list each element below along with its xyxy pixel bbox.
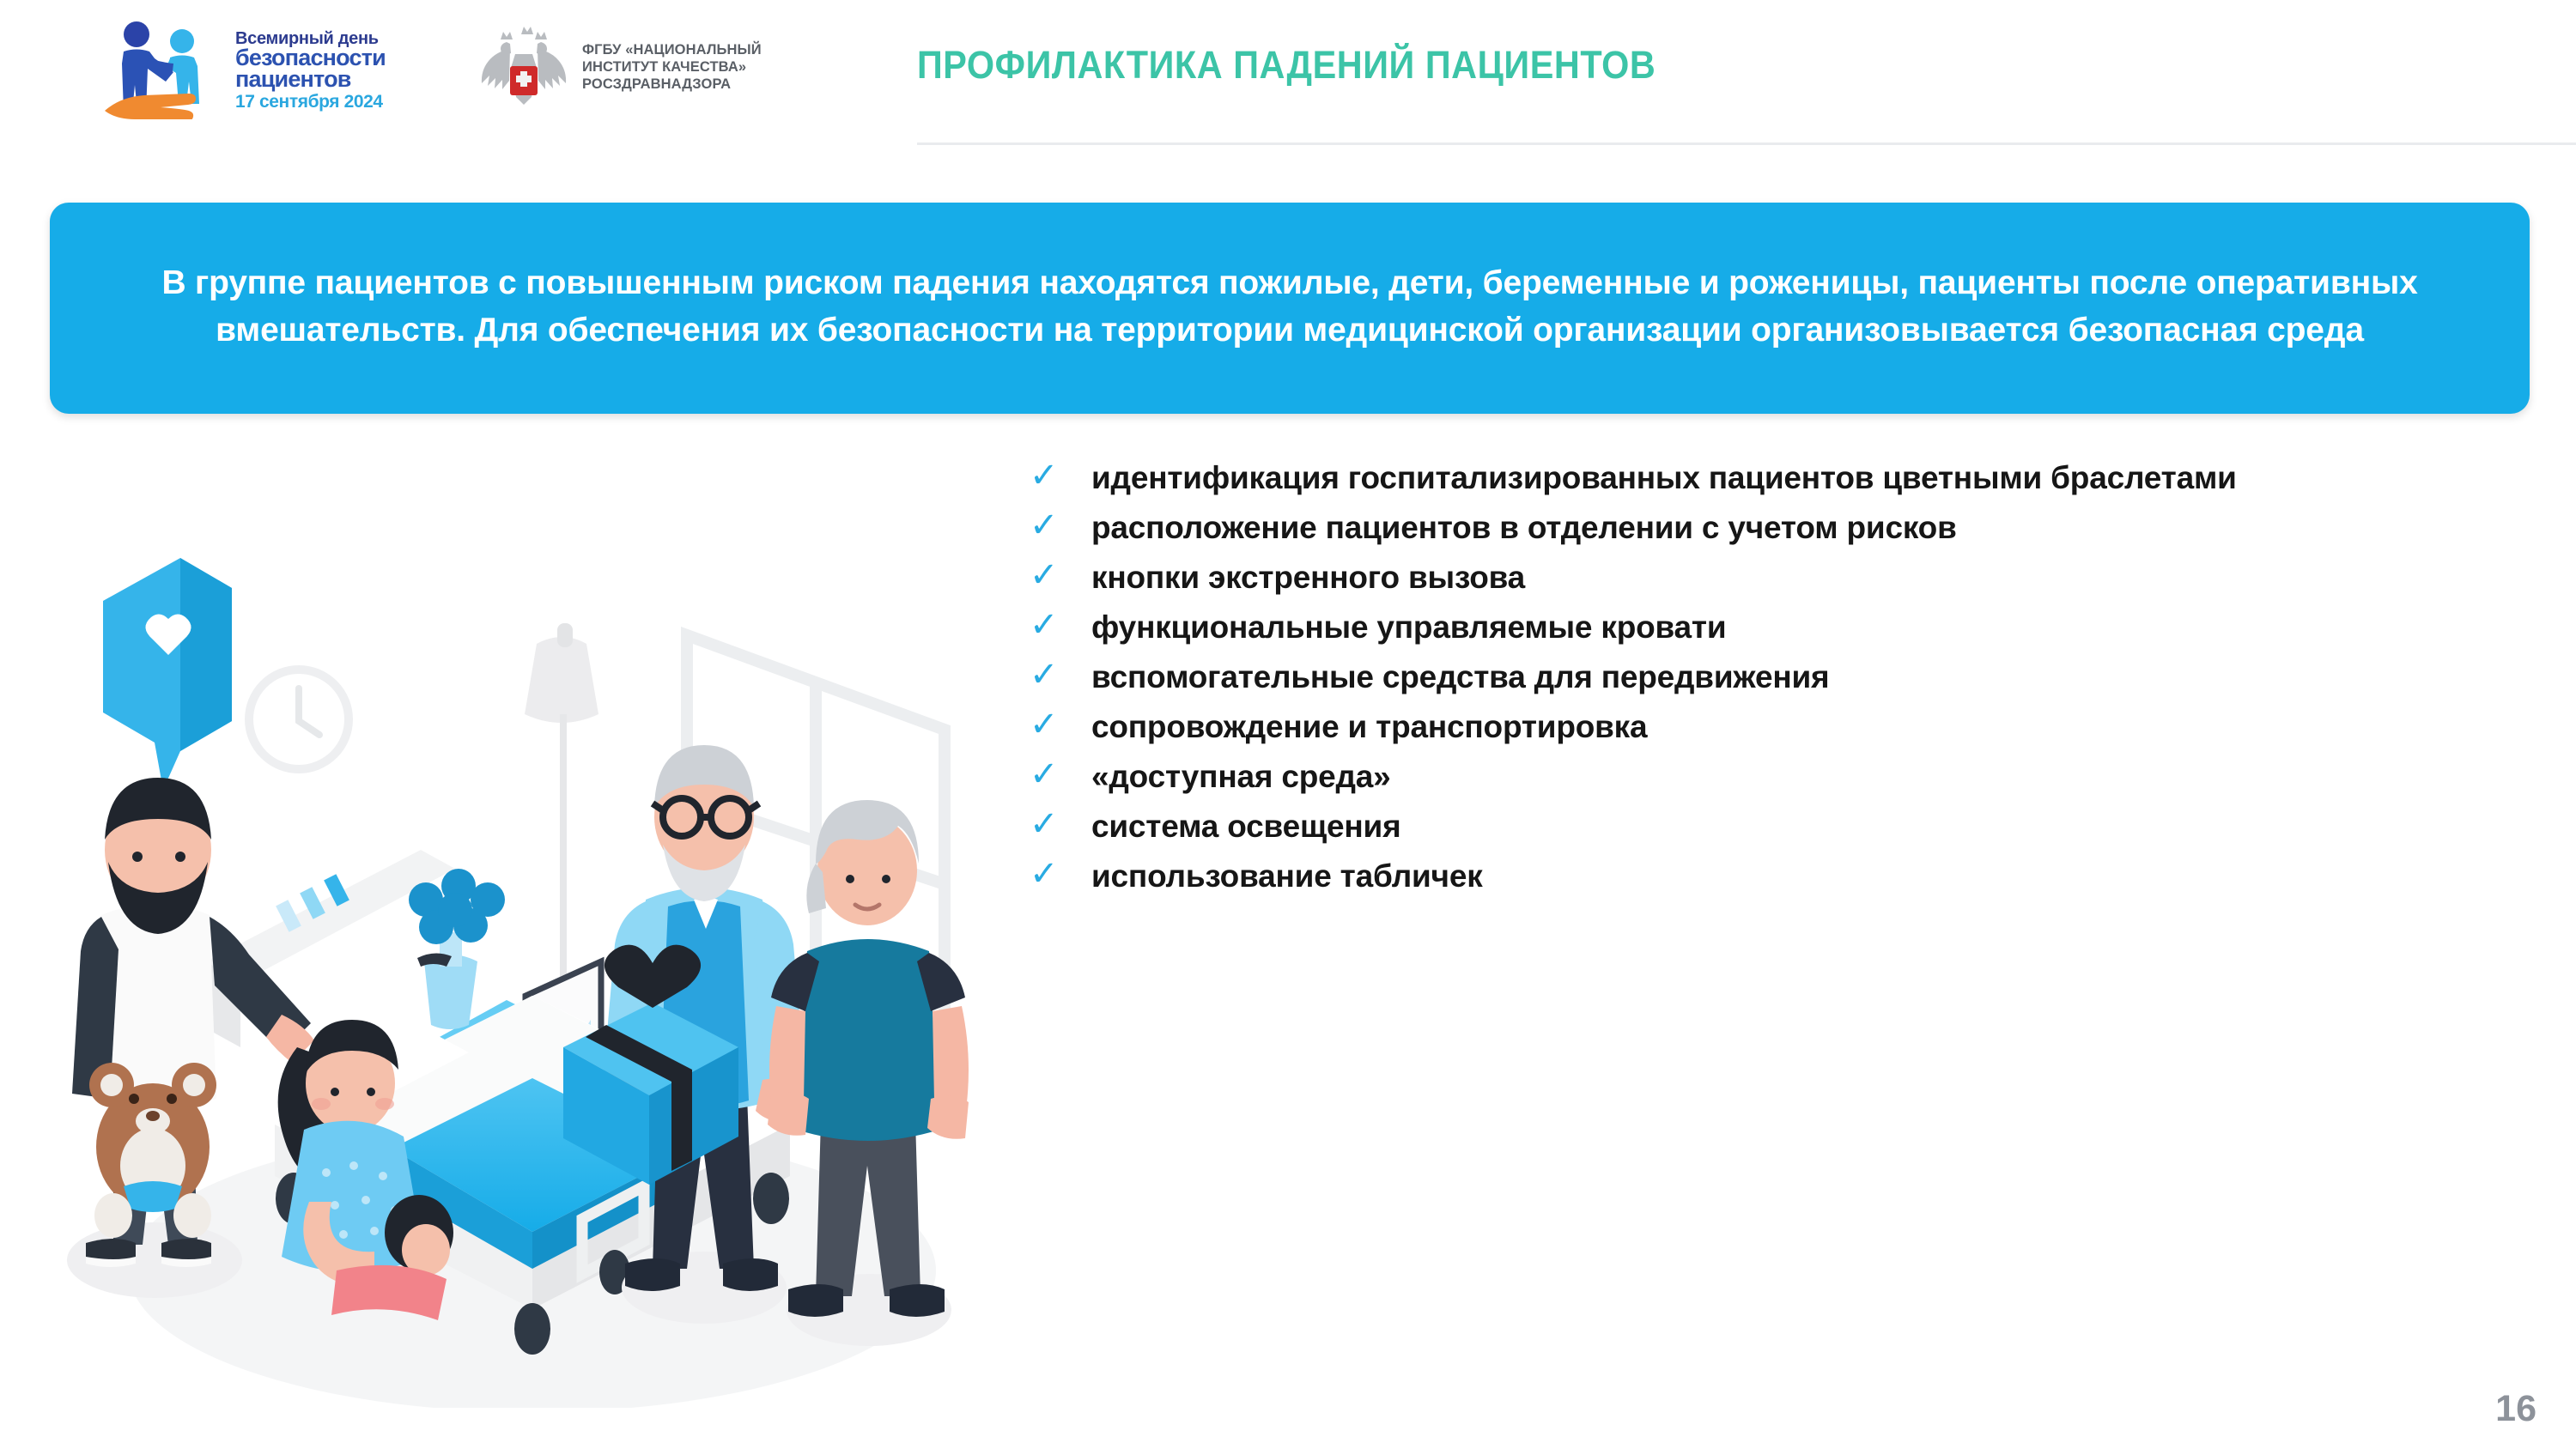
- list-item-label: вспомогательные средства для передвижени…: [1091, 652, 1829, 702]
- wpsd-line-3: пациентов: [235, 68, 386, 92]
- page-number: 16: [2495, 1388, 2537, 1430]
- list-item-label: расположение пациентов в отделении с уче…: [1091, 503, 1957, 553]
- check-icon: ✓: [1018, 702, 1091, 747]
- rzn-line-1: ФГБУ «НАЦИОНАЛЬНЫЙ: [582, 41, 762, 58]
- rzn-line-3: РОСЗДРАВНАДЗОРА: [582, 76, 762, 93]
- list-item-label: идентификация госпитализированных пациен…: [1091, 453, 2237, 503]
- list-item[interactable]: ✓ сопровождение и транспортировка: [1018, 702, 2555, 752]
- teddy-bear: [89, 1063, 216, 1238]
- wpsd-line-4: 17 сентября 2024: [235, 93, 386, 111]
- list-item[interactable]: ✓ идентификация госпитализированных паци…: [1018, 453, 2555, 503]
- illustration-svg: [52, 446, 1005, 1408]
- list-item[interactable]: ✓ вспомогательные средства для передвиже…: [1018, 652, 2555, 702]
- list-item[interactable]: ✓ «доступная среда»: [1018, 752, 2555, 802]
- flower-vase-decor: [409, 869, 505, 1029]
- check-icon: ✓: [1018, 852, 1091, 896]
- highlight-banner: В группе пациентов с повышенным риском п…: [50, 203, 2530, 414]
- list-item-label: «доступная среда»: [1091, 752, 1391, 802]
- check-icon: ✓: [1018, 802, 1091, 846]
- list-item[interactable]: ✓ кнопки экстренного вызова: [1018, 553, 2555, 603]
- russian-double-headed-eagle-emblem-icon: [477, 21, 570, 107]
- list-item-label: функциональные управляемые кровати: [1091, 603, 1726, 652]
- check-icon: ✓: [1018, 453, 1091, 498]
- title-divider: [917, 142, 2576, 145]
- two-people-on-hand-icon: [96, 18, 225, 119]
- measures-checklist: ✓ идентификация госпитализированных паци…: [1018, 453, 2555, 901]
- heart-bubble-icon: [103, 558, 232, 790]
- list-item[interactable]: ✓ функциональные управляемые кровати: [1018, 603, 2555, 652]
- world-patient-safety-day-logo: Всемирный день безопасности пациентов 17…: [96, 17, 422, 120]
- check-icon: ✓: [1018, 553, 1091, 597]
- list-item[interactable]: ✓ использование табличек: [1018, 852, 2555, 901]
- slide-header: Всемирный день безопасности пациентов 17…: [0, 0, 2576, 163]
- check-icon: ✓: [1018, 652, 1091, 697]
- hospital-room-family-visit-illustration: [52, 446, 1005, 1408]
- list-item-label: система освещения: [1091, 802, 1400, 852]
- highlight-banner-text: В группе пациентов с повышенным риском п…: [88, 259, 2492, 355]
- check-icon: ✓: [1018, 503, 1091, 548]
- roszdravnadzor-institute-logo: ФГБУ «НАЦИОНАЛЬНЫЙ ИНСТИТУТ КАЧЕСТВА» РО…: [477, 17, 838, 112]
- wall-clock-decor: [249, 670, 349, 769]
- check-icon: ✓: [1018, 752, 1091, 797]
- page-title: ПРОФИЛАКТИКА ПАДЕНИЙ ПАЦИЕНТОВ: [917, 43, 1656, 88]
- list-item-label: использование табличек: [1091, 852, 1483, 901]
- list-item-label: кнопки экстренного вызова: [1091, 553, 1525, 603]
- list-item[interactable]: ✓ расположение пациентов в отделении с у…: [1018, 503, 2555, 553]
- list-item-label: сопровождение и транспортировка: [1091, 702, 1647, 752]
- list-item[interactable]: ✓ система освещения: [1018, 802, 2555, 852]
- check-icon: ✓: [1018, 603, 1091, 647]
- rzn-line-2: ИНСТИТУТ КАЧЕСТВА»: [582, 58, 762, 76]
